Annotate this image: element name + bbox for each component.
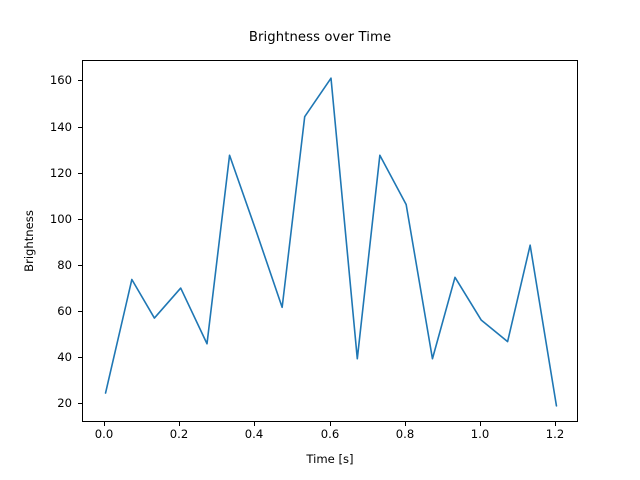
chart-title: Brightness over Time [0,30,640,45]
ytick-mark [78,80,82,81]
xtick-label-3: 0.6 [321,427,339,441]
xtick-label-4: 0.8 [396,427,414,441]
ytick-label-40: 40 [48,350,72,364]
xtick-label-6: 1.2 [546,427,564,441]
ytick-mark [78,173,82,174]
ytick-mark [78,127,82,128]
ytick-mark [78,403,82,404]
ytick-label-160: 160 [41,73,72,87]
y-axis-label: Brightness [22,60,36,422]
matplotlib-figure: Brightness over Time 0.0 0.2 0.4 0.6 0.8… [0,0,640,480]
x-axis-label: Time [s] [82,452,578,466]
xtick-mark [480,422,481,426]
xtick-mark [555,422,556,426]
xtick-label-1: 0.2 [170,427,188,441]
ytick-mark [78,357,82,358]
xtick-label-2: 0.4 [245,427,263,441]
ytick-mark [78,265,82,266]
ytick-label-20: 20 [48,396,72,410]
xtick-mark [104,422,105,426]
line-plot-svg [83,61,579,423]
xtick-label-5: 1.0 [471,427,489,441]
ytick-label-100: 100 [41,212,72,226]
ytick-label-80: 80 [48,258,72,272]
ytick-label-140: 140 [41,120,72,134]
brightness-data-line [106,78,557,406]
ytick-label-120: 120 [41,166,72,180]
ytick-label-60: 60 [48,304,72,318]
xtick-mark [254,422,255,426]
xtick-mark [330,422,331,426]
xtick-label-0: 0.0 [95,427,113,441]
xtick-mark [405,422,406,426]
xtick-mark [179,422,180,426]
ytick-mark [78,219,82,220]
plot-axes-area [82,60,578,422]
ytick-mark [78,311,82,312]
